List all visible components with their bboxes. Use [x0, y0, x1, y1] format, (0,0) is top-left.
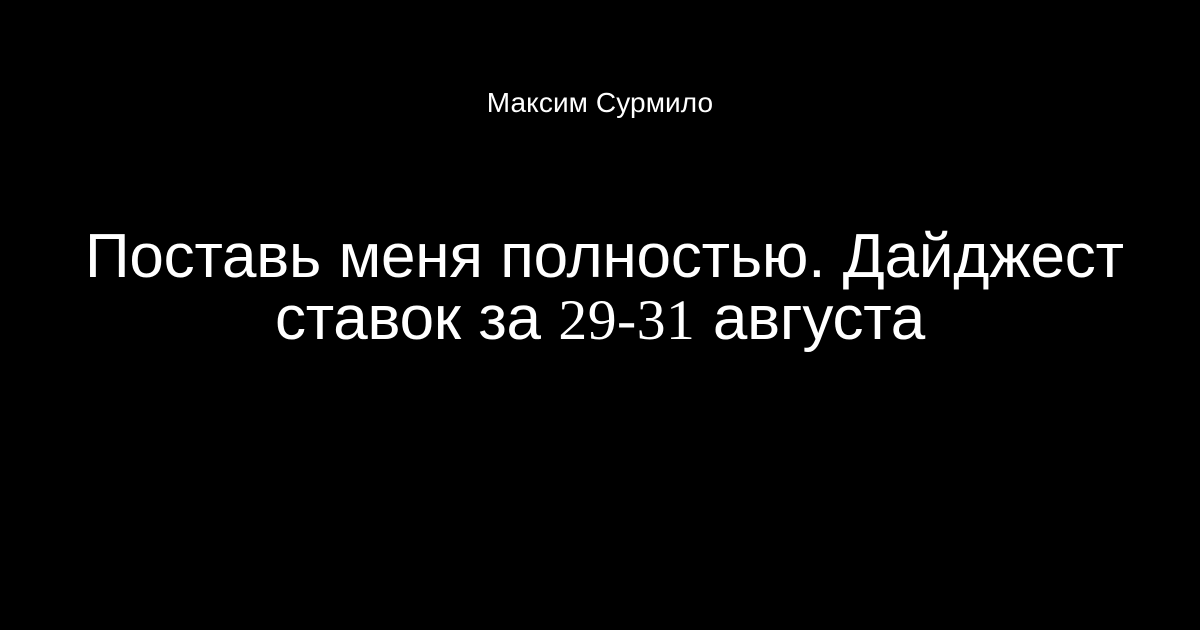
share-card: Максим Сурмило Поставь меня полностью. Д… — [0, 0, 1200, 630]
byline: Максим Сурмило — [0, 0, 1200, 118]
headline-line-2-prefix: ставок за — [275, 284, 558, 353]
headline-line-1: Поставь меня полностью. Дайджест — [85, 226, 1115, 288]
page-title: Поставь меня полностью. Дайджест ставок … — [85, 226, 1115, 352]
card-empty-area — [0, 390, 1200, 630]
headline-date-digits: 29-31 — [558, 289, 695, 352]
headline-line-2: ставок за 29-31 августа — [85, 288, 1115, 352]
author-name: Максим Сурмило — [487, 88, 713, 118]
headline-line-2-suffix: августа — [695, 284, 925, 353]
headline-block: Поставь меня полностью. Дайджест ставок … — [0, 226, 1200, 352]
